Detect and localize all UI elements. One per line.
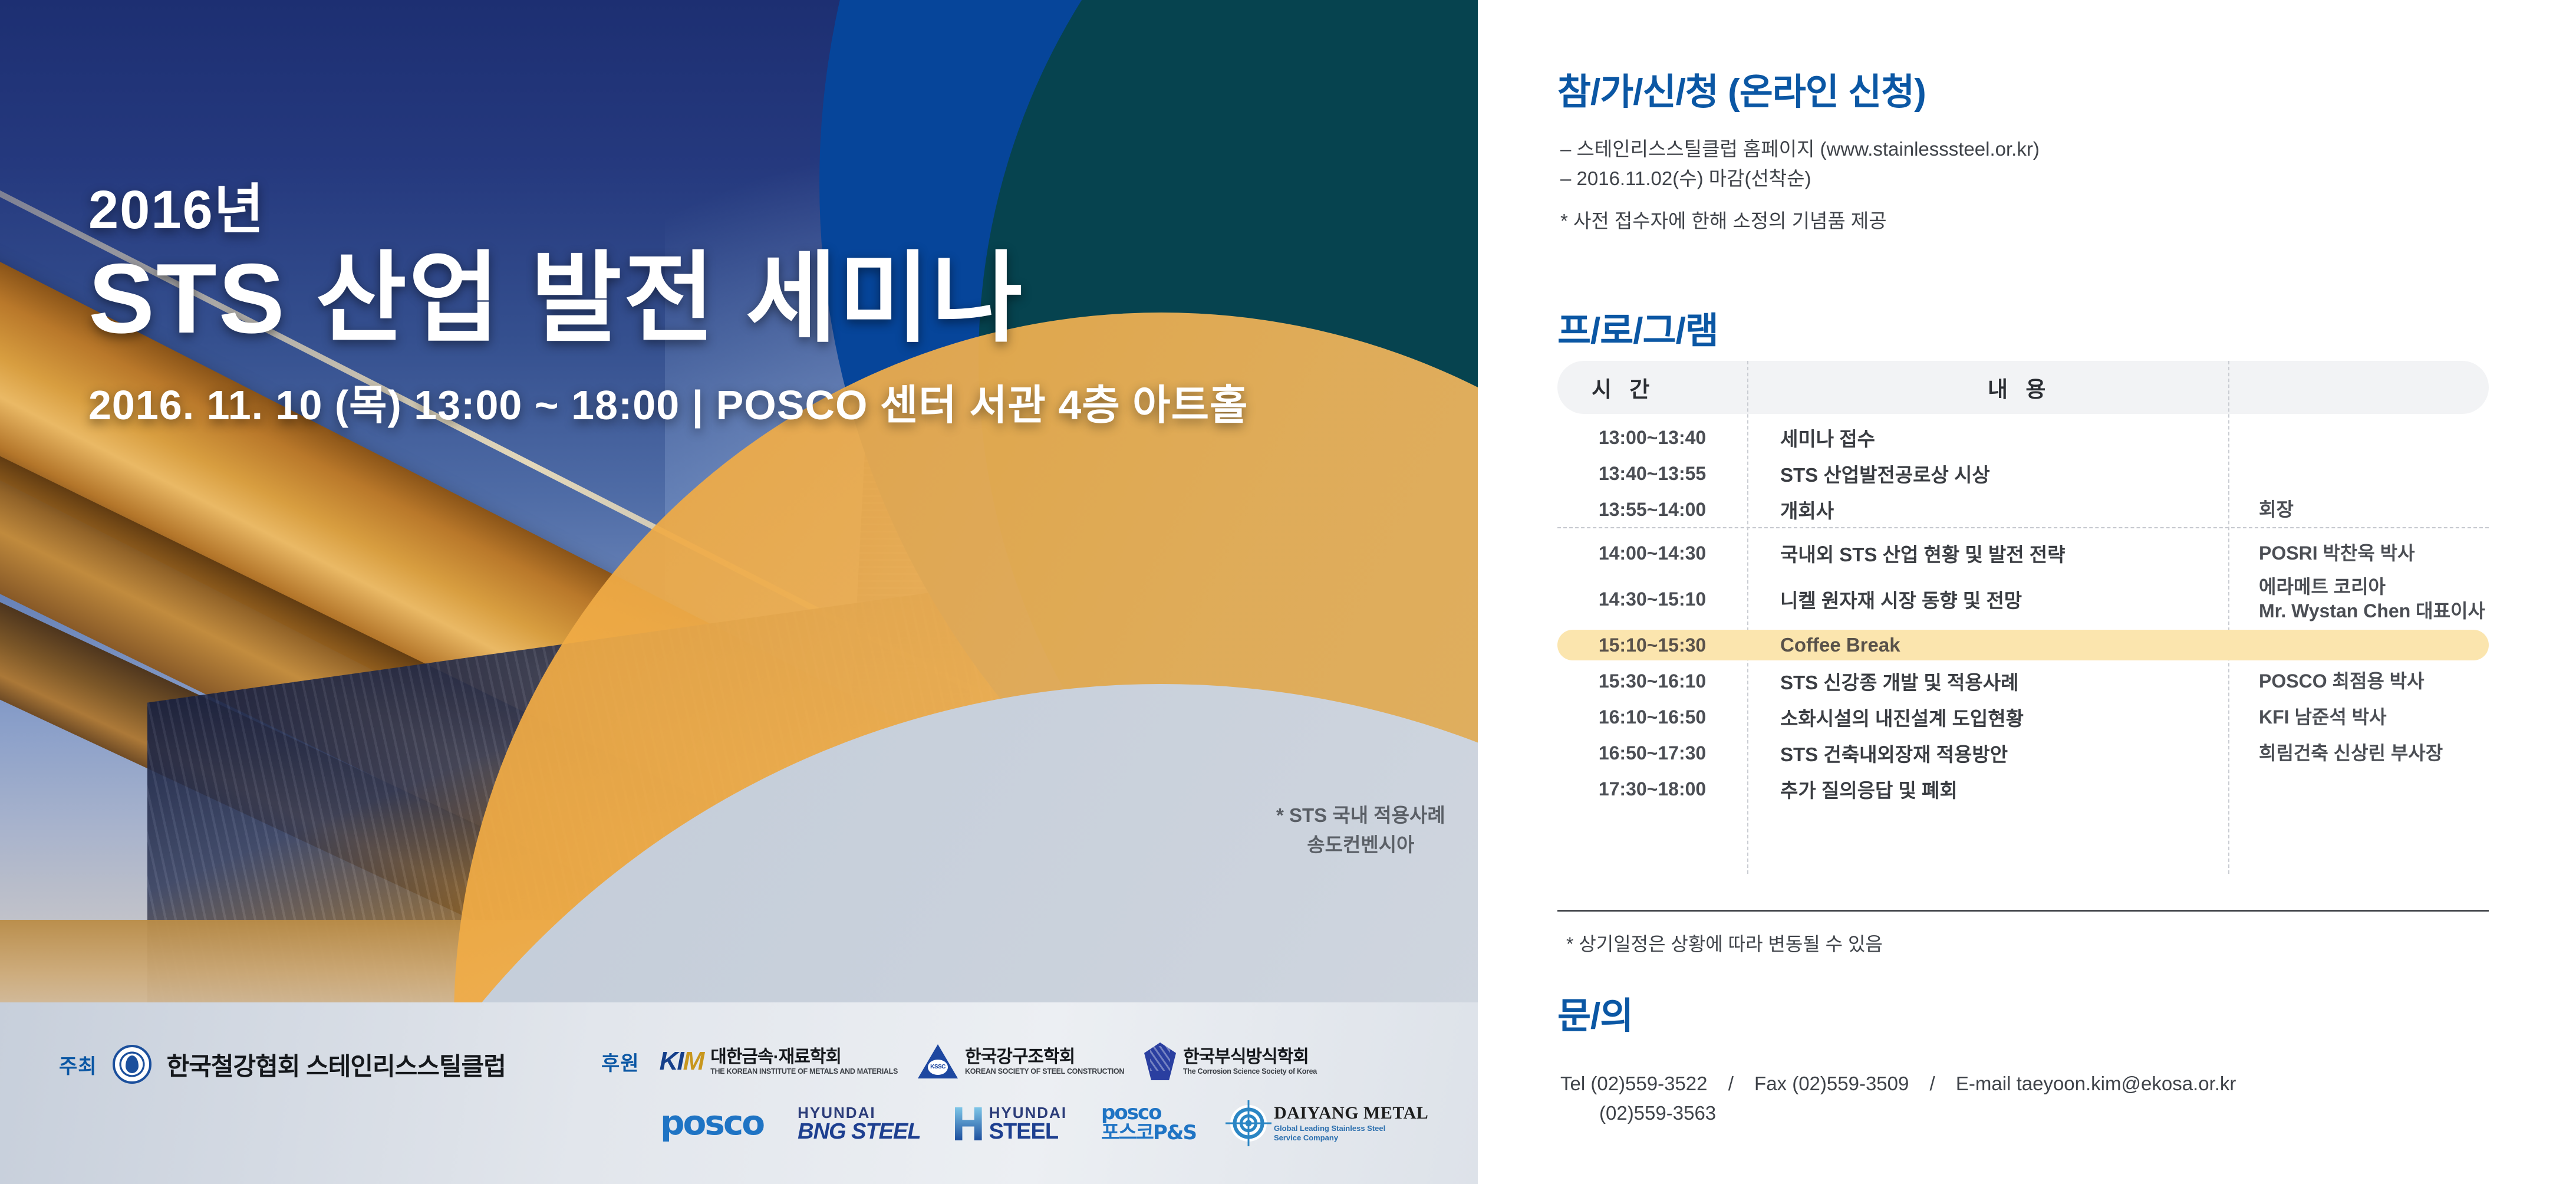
cell-desc: 국내외 STS 산업 현황 및 발전 전략 bbox=[1747, 539, 2228, 567]
host-organization-name: 한국철강협회 스테인리스스틸클럽 bbox=[167, 1047, 506, 1083]
logo-kim-kr: 대한금속·재료학회 bbox=[710, 1047, 898, 1068]
table-row-coffee-break: 15:10~15:30 Coffee Break bbox=[1557, 630, 2489, 660]
logo-daiyang-metal: DAIYANG METAL Global Leading Stainless S… bbox=[1230, 1103, 1428, 1143]
seminar-poster: 2016년 STS 산업 발전 세미나 2016. 11. 10 (목) 13:… bbox=[0, 0, 2576, 1184]
cell-speaker: 에라메트 코리아 Mr. Wystan Chen 대표이사 bbox=[2228, 575, 2489, 623]
email-label: E-mail bbox=[1956, 1073, 2011, 1094]
cell-speaker: KFI 남준석 박사 bbox=[2228, 705, 2489, 729]
cell-time: 13:55~14:00 bbox=[1557, 499, 1747, 521]
fax-value: (02)559-3509 bbox=[1792, 1073, 1909, 1094]
logo-kim-en: THE KOREAN INSTITUTE OF METALS AND MATER… bbox=[710, 1067, 898, 1076]
table-row: 16:10~16:50 소화시설의 내진설계 도입현황 KFI 남준석 박사 bbox=[1557, 702, 2489, 732]
photo-caption: * STS 국내 적용사례 송도컨벤시아 bbox=[1276, 801, 1445, 859]
cell-speaker: POSRI 박찬욱 박사 bbox=[2228, 541, 2489, 565]
contact-details: Tel (02)559-3522 / Fax (02)559-3509 / E-… bbox=[1560, 1069, 2236, 1127]
poster-title: STS 산업 발전 세미나 bbox=[88, 245, 1248, 352]
cell-time: 15:30~16:10 bbox=[1557, 670, 1747, 692]
logo-hyundai-bng-steel: HYUNDAI BNG STEEL bbox=[798, 1105, 920, 1143]
table-row: 13:00~13:40 세미나 접수 bbox=[1557, 422, 2489, 453]
cell-desc: Coffee Break bbox=[1747, 634, 2228, 656]
program-heading: 프/로/그/램 bbox=[1557, 301, 1718, 354]
hyundai-h-icon bbox=[955, 1107, 982, 1140]
logo-cssk-kr: 한국부식방식학회 bbox=[1183, 1047, 1317, 1068]
apply-heading: 참/가/신/청 (온라인 신청) bbox=[1557, 62, 1926, 115]
venue-photo bbox=[0, 0, 1478, 1035]
logo-hsteel-top: HYUNDAI bbox=[989, 1105, 1067, 1120]
cell-time: 15:10~15:30 bbox=[1557, 634, 1747, 656]
photo-caption-line2: 송도컨벤시아 bbox=[1276, 830, 1445, 860]
apply-details: – 스테인리스스틸클럽 홈페이지 (www.stainlesssteel.or.… bbox=[1560, 134, 2040, 193]
table-row: 16:50~17:30 STS 건축내외장재 적용방안 희림건축 신상린 부사장 bbox=[1557, 738, 2489, 768]
logo-daiyang-tag2: Service Company bbox=[1274, 1133, 1428, 1143]
cell-time: 13:00~13:40 bbox=[1557, 427, 1747, 449]
daiyang-target-icon bbox=[1230, 1105, 1267, 1142]
tel-value: (02)559-3522 bbox=[1590, 1073, 1707, 1094]
cell-desc: STS 산업발전공로상 시상 bbox=[1747, 459, 2228, 488]
logo-pns-top: posco bbox=[1101, 1103, 1196, 1123]
cell-speaker: 희림건축 신상린 부사장 bbox=[2228, 741, 2489, 765]
poster-year: 2016년 bbox=[88, 183, 1248, 237]
table-row: 13:40~13:55 STS 산업발전공로상 시상 bbox=[1557, 458, 2489, 489]
sponsor-footer: 주최 한국철강협회 스테인리스스틸클럽 후원 KIM 대한금속·재료학회 THE… bbox=[0, 1039, 1478, 1180]
cell-time: 14:30~15:10 bbox=[1557, 588, 1747, 610]
logo-posco: posco bbox=[660, 1103, 763, 1143]
foreground-ground bbox=[0, 920, 1478, 1035]
construction-crane bbox=[943, 35, 947, 136]
cell-speaker: POSCO 최점용 박사 bbox=[2228, 669, 2489, 693]
table-bottom-rule bbox=[1557, 910, 2489, 912]
program-note: * 상기일정은 상황에 따라 변동될 수 있음 bbox=[1566, 929, 1883, 956]
poster-title-block: 2016년 STS 산업 발전 세미나 2016. 11. 10 (목) 13:… bbox=[88, 183, 1248, 432]
kssc-triangle-icon bbox=[918, 1044, 958, 1078]
cell-time: 13:40~13:55 bbox=[1557, 463, 1747, 485]
table-row: 15:30~16:10 STS 신강종 개발 및 적용사례 POSCO 최점용 … bbox=[1557, 666, 2489, 696]
sponsor-row-companies: posco HYUNDAI BNG STEEL HYUNDAI STEEL po… bbox=[660, 1103, 1428, 1143]
ksa-seal-icon bbox=[113, 1045, 151, 1084]
cssk-diamond-icon bbox=[1144, 1042, 1176, 1080]
photo-caption-line1: * STS 국내 적용사례 bbox=[1276, 801, 1445, 830]
column-header-content: 내 용 bbox=[1988, 371, 2051, 403]
logo-kssc-kr: 한국강구조학회 bbox=[965, 1047, 1124, 1068]
logo-hsteel-bottom: STEEL bbox=[989, 1120, 1067, 1143]
cell-desc: STS 건축내외장재 적용방안 bbox=[1747, 739, 2228, 767]
cell-time: 16:50~17:30 bbox=[1557, 742, 1747, 764]
cell-speaker: 회장 bbox=[2228, 498, 2489, 522]
right-info-panel: 참/가/신/청 (온라인 신청) – 스테인리스스틸클럽 홈페이지 (www.s… bbox=[1478, 0, 2576, 1184]
host-label: 주최 bbox=[59, 1050, 97, 1079]
sponsor-row-societies: 후원 KIM 대한금속·재료학회 THE KOREAN INSTITUTE OF… bbox=[601, 1042, 1317, 1080]
separator-1: / bbox=[1728, 1073, 1734, 1094]
column-header-time: 시 간 bbox=[1592, 371, 1655, 403]
logo-kssc-en: KOREAN SOCIETY OF STEEL CONSTRUCTION bbox=[965, 1067, 1124, 1076]
kim-mark-icon: KIM bbox=[660, 1047, 704, 1076]
cell-desc: 세미나 접수 bbox=[1747, 423, 2228, 452]
contact-heading: 문/의 bbox=[1557, 986, 1633, 1039]
cell-time: 16:10~16:50 bbox=[1557, 706, 1747, 728]
logo-cssk: 한국부식방식학회 The Corrosion Science Society o… bbox=[1144, 1042, 1317, 1080]
logo-posco-pns: posco 포스코P&S bbox=[1101, 1103, 1196, 1143]
logo-hyundai-steel: HYUNDAI STEEL bbox=[955, 1105, 1067, 1143]
logo-daiyang-tag1: Global Leading Stainless Steel bbox=[1274, 1124, 1428, 1133]
cell-time: 17:30~18:00 bbox=[1557, 778, 1747, 800]
email-value[interactable]: taeyoon.kim@ekosa.or.kr bbox=[2017, 1073, 2236, 1094]
logo-bng-bottom: BNG STEEL bbox=[798, 1120, 920, 1143]
tel-label: Tel bbox=[1560, 1073, 1585, 1094]
contact-line-1: Tel (02)559-3522 / Fax (02)559-3509 / E-… bbox=[1560, 1069, 2236, 1099]
table-row: 14:30~15:10 니켈 원자재 시장 동향 및 전망 에라메트 코리아 M… bbox=[1557, 574, 2489, 624]
program-table-body: 13:00~13:40 세미나 접수 13:40~13:55 STS 산업발전공… bbox=[1557, 422, 2489, 804]
cell-desc: 소화시설의 내진설계 도입현황 bbox=[1747, 703, 2228, 731]
logo-bng-top: HYUNDAI bbox=[798, 1105, 920, 1120]
apply-line-homepage: – 스테인리스스틸클럽 홈페이지 (www.stainlesssteel.or.… bbox=[1560, 134, 2040, 164]
cell-desc: 개회사 bbox=[1747, 495, 2228, 524]
apply-line-deadline: – 2016.11.02(수) 마감(선착순) bbox=[1560, 164, 2040, 193]
poster-datetime-venue: 2016. 11. 10 (목) 13:00 ~ 18:00 | POSCO 센… bbox=[88, 372, 1248, 432]
table-row: 17:30~18:00 추가 질의응답 및 폐회 bbox=[1557, 774, 2489, 804]
row-divider bbox=[1557, 527, 2489, 528]
program-table: 시 간 내 용 13:00~13:40 세미나 접수 13:40~13:55 S… bbox=[1557, 361, 2489, 810]
cell-time: 14:00~14:30 bbox=[1557, 542, 1747, 564]
apply-gift-note: * 사전 접수자에 한해 소정의 기념품 제공 bbox=[1560, 205, 1887, 233]
logo-pns-bottom: 포스코P&S bbox=[1101, 1123, 1196, 1143]
cell-desc: 니켈 원자재 시장 동향 및 전망 bbox=[1747, 585, 2228, 613]
logo-cssk-en: The Corrosion Science Society of Korea bbox=[1183, 1067, 1317, 1076]
table-row: 13:55~14:00 개회사 회장 bbox=[1557, 494, 2489, 525]
logo-daiyang-name: DAIYANG METAL bbox=[1274, 1103, 1428, 1124]
logo-kssc: 한국강구조학회 KOREAN SOCIETY OF STEEL CONSTRUC… bbox=[918, 1044, 1124, 1078]
table-row: 14:00~14:30 국내외 STS 산업 현황 및 발전 전략 POSRI … bbox=[1557, 538, 2489, 568]
logo-kim: KIM 대한금속·재료학회 THE KOREAN INSTITUTE OF ME… bbox=[660, 1047, 898, 1076]
fax-label: Fax bbox=[1754, 1073, 1787, 1094]
cell-desc: STS 신강종 개발 및 적용사례 bbox=[1747, 667, 2228, 695]
left-visual-panel: 2016년 STS 산업 발전 세미나 2016. 11. 10 (목) 13:… bbox=[0, 0, 1478, 1184]
host-row: 주최 한국철강협회 스테인리스스틸클럽 bbox=[59, 1045, 506, 1084]
sponsor-label: 후원 bbox=[601, 1047, 640, 1076]
program-table-header: 시 간 내 용 bbox=[1557, 361, 2489, 414]
contact-line-2: (02)559-3563 bbox=[1560, 1099, 2236, 1128]
separator-2: / bbox=[1930, 1073, 1935, 1094]
cell-desc: 추가 질의응답 및 폐회 bbox=[1747, 775, 2228, 803]
